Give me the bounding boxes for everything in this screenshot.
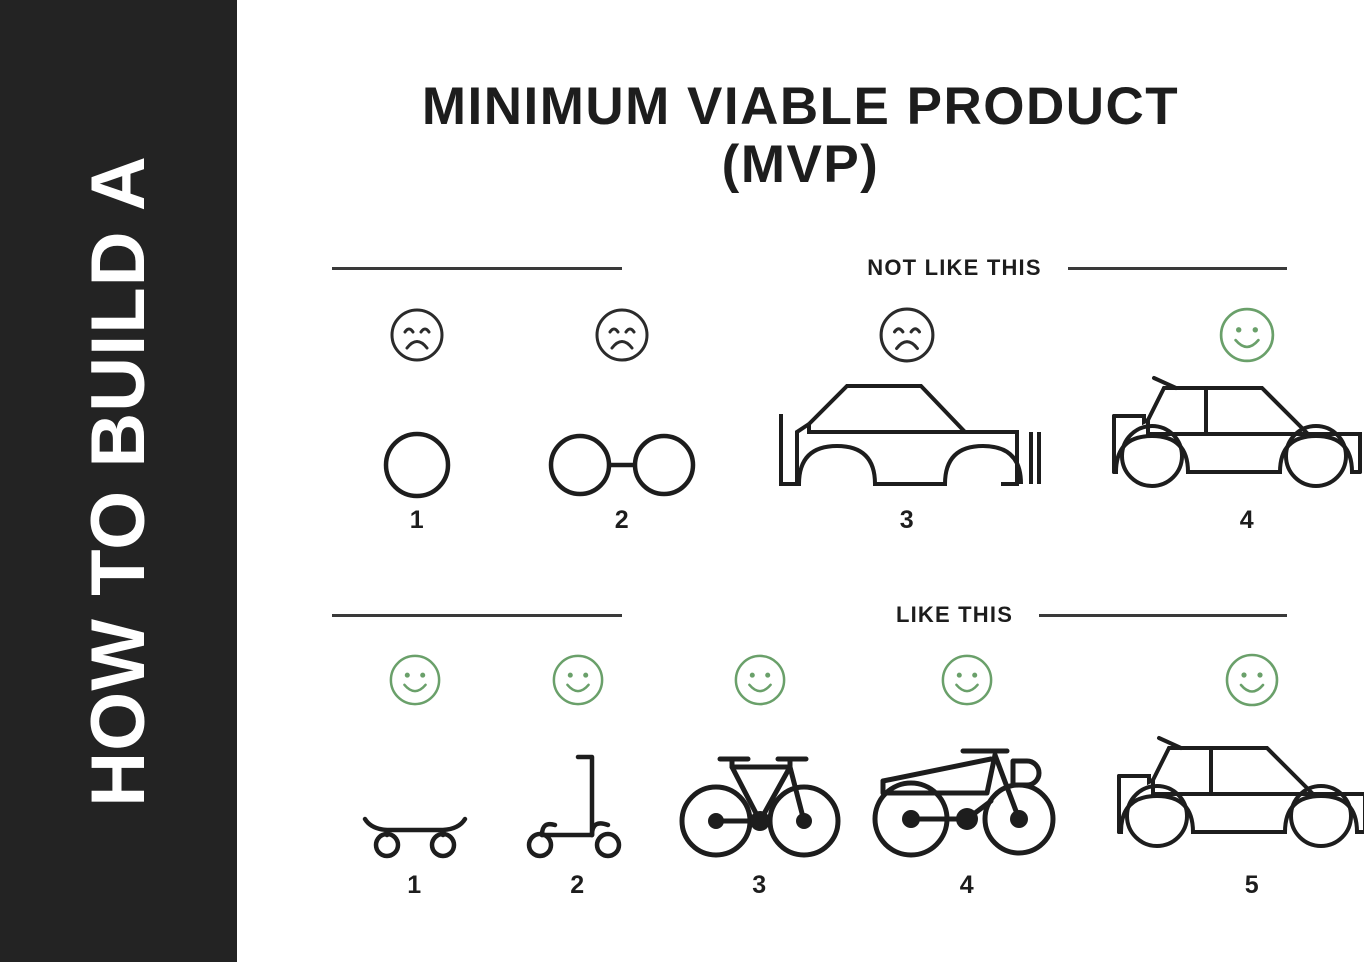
step-number: 2 — [495, 871, 660, 900]
step-like-5: 5 — [1087, 645, 1364, 900]
divider-rule-left — [332, 267, 622, 270]
step-number: 1 — [337, 506, 497, 535]
step-number: 4 — [1077, 506, 1364, 535]
art-bicycle — [662, 715, 857, 865]
happy-face-icon — [662, 645, 857, 715]
art-car-complete — [1087, 715, 1364, 865]
sidebar-banner: HOW TO BUILD A — [0, 0, 237, 962]
step-number: 3 — [742, 506, 1072, 535]
step-not-4: 4 — [1077, 300, 1364, 535]
step-number: 1 — [337, 871, 492, 900]
step-not-3: 3 — [742, 300, 1072, 535]
page-title-line1: MINIMUM VIABLE PRODUCT — [422, 77, 1179, 136]
main-content: MINIMUM VIABLE PRODUCT (MVP) NOT LIKE TH… — [237, 0, 1364, 962]
step-like-1: 1 — [337, 645, 492, 900]
art-motorcycle — [852, 715, 1082, 865]
happy-face-icon — [495, 645, 660, 715]
art-axle-wheels — [512, 370, 732, 500]
divider-label-like-this: LIKE THIS — [870, 602, 1039, 628]
steps-row-like-this: 1 — [332, 645, 1287, 915]
step-number: 4 — [852, 871, 1082, 900]
art-car-complete — [1077, 370, 1364, 500]
happy-face-icon — [1087, 645, 1364, 715]
step-number: 2 — [512, 506, 732, 535]
page-title: MINIMUM VIABLE PRODUCT (MVP) — [237, 78, 1364, 195]
step-not-1: 1 — [337, 300, 497, 535]
happy-face-icon — [852, 645, 1082, 715]
page-title-line2: (MVP) — [237, 136, 1364, 194]
happy-face-icon — [337, 645, 492, 715]
step-like-2: 2 — [495, 645, 660, 900]
divider-rule-right — [1039, 614, 1287, 617]
step-like-4: 4 — [852, 645, 1082, 900]
sad-face-icon — [742, 300, 1072, 370]
divider-label-not-like-this: NOT LIKE THIS — [841, 255, 1068, 281]
art-scooter — [495, 715, 660, 865]
steps-row-not-like-this: 1 — [332, 300, 1287, 565]
step-number: 3 — [662, 871, 857, 900]
divider-not-like-this: NOT LIKE THIS — [332, 258, 1287, 278]
art-car-body — [742, 370, 1072, 500]
art-skateboard — [337, 715, 492, 865]
sad-face-icon — [512, 300, 732, 370]
art-wheel — [337, 370, 497, 500]
step-number: 5 — [1087, 871, 1364, 900]
divider-rule-right — [1068, 267, 1287, 270]
divider-like-this: LIKE THIS — [332, 605, 1287, 625]
sidebar-title: HOW TO BUILD A — [81, 155, 157, 807]
divider-rule-left — [332, 614, 622, 617]
step-not-2: 2 — [512, 300, 732, 535]
infographic-page: HOW TO BUILD A MINIMUM VIABLE PRODUCT (M… — [0, 0, 1364, 962]
step-like-3: 3 — [662, 645, 857, 900]
sad-face-icon — [337, 300, 497, 370]
